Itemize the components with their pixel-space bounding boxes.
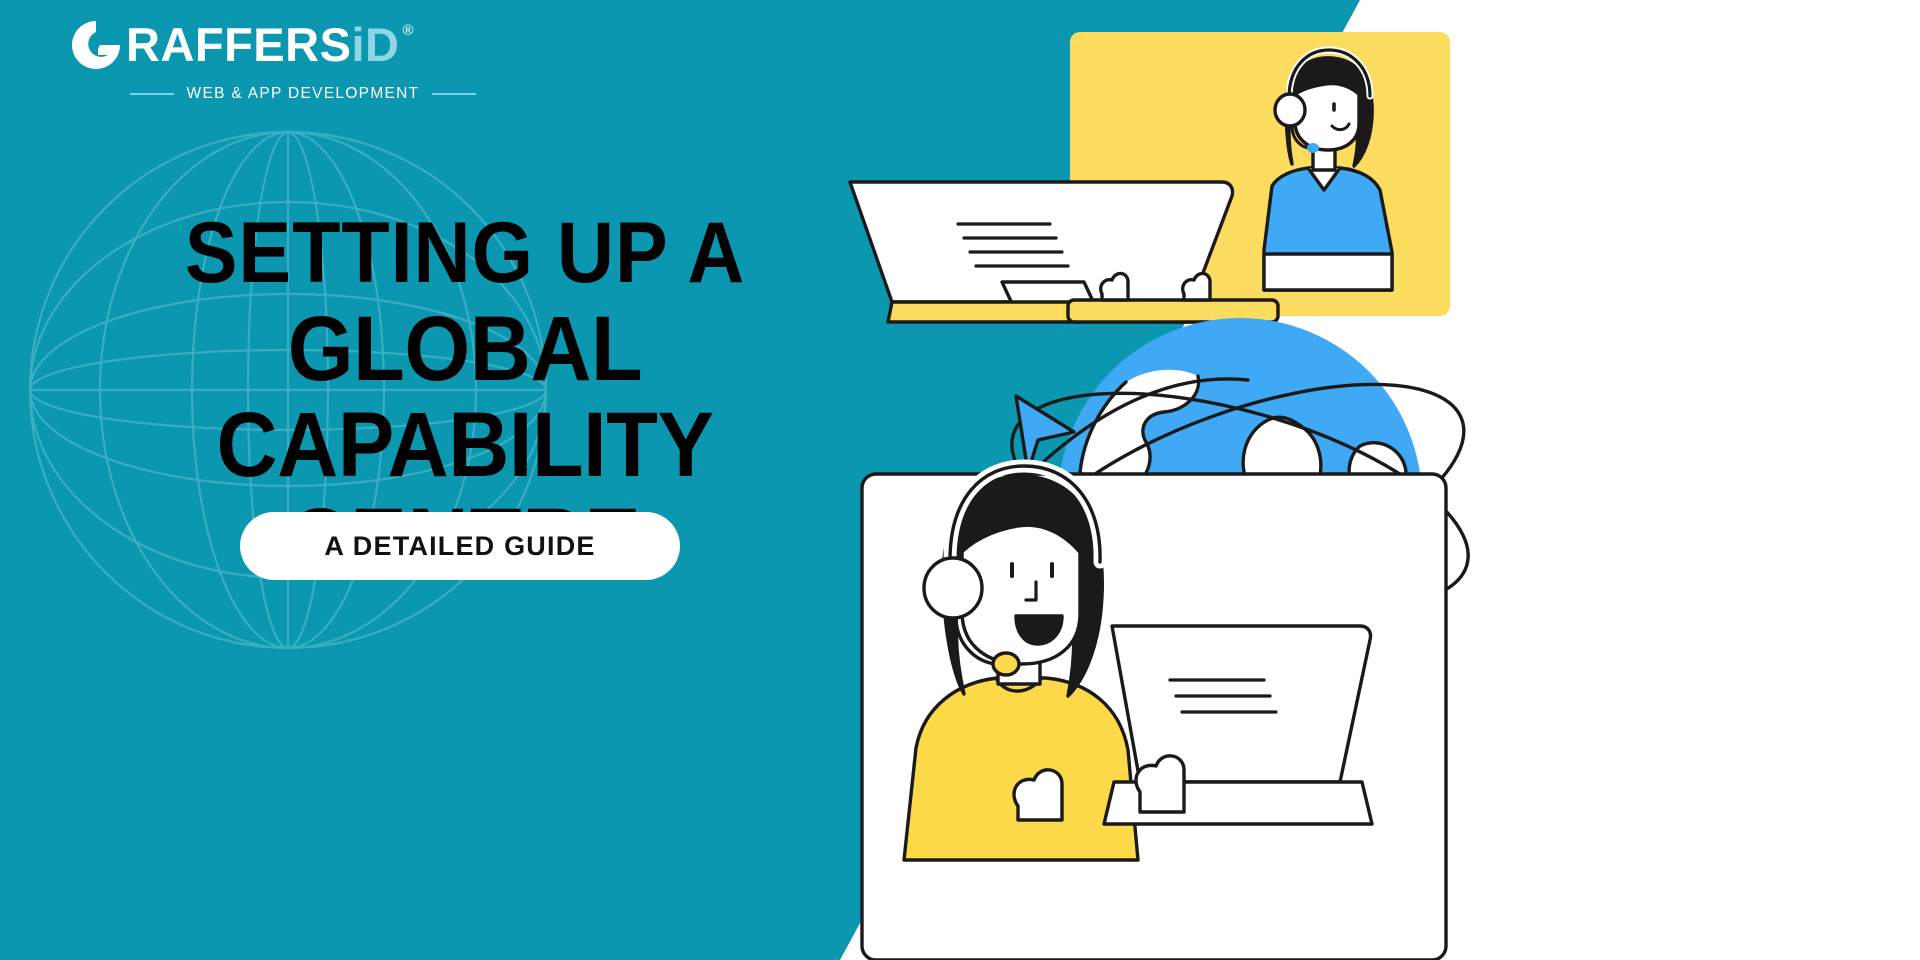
agent-bottom-torso: [904, 678, 1138, 860]
illustration-artwork: [840, 0, 1920, 960]
detailed-guide-button[interactable]: A DETAILED GUIDE: [240, 512, 680, 580]
logo-tagline-row: WEB & APP DEVELOPMENT: [68, 85, 538, 103]
agent-top-forearms: [1264, 254, 1392, 290]
brand-logo[interactable]: RAFFERSiD® WEB & APP DEVELOPMENT: [68, 14, 538, 103]
agent-bottom-headset-mic-tip: [993, 653, 1019, 675]
logo-text: RAFFERSiD®: [126, 17, 414, 73]
detailed-guide-button-label: A DETAILED GUIDE: [324, 531, 595, 562]
logo-accent-text: iD: [351, 17, 399, 73]
logo-tagline: WEB & APP DEVELOPMENT: [187, 85, 420, 103]
tagline-dash-left-icon: [130, 93, 174, 95]
agent-top-headset-mic-tip: [1307, 143, 1319, 153]
registered-trademark-icon: ®: [402, 23, 414, 38]
tagline-dash-right-icon: [432, 93, 476, 95]
graffers-g-icon: [68, 17, 124, 73]
agent-bottom-headset-earcup: [924, 558, 982, 618]
headline-line-1: SETTING UP A: [37, 205, 893, 301]
agent-top-headset-earcup: [1275, 94, 1305, 126]
logo-main-text: RAFFERS: [126, 17, 351, 73]
logo-wordmark-row: RAFFERSiD®: [68, 14, 538, 76]
headline-line-2: GLOBAL CAPABILITY: [37, 301, 893, 493]
marketing-banner: RAFFERSiD® WEB & APP DEVELOPMENT SETTING…: [0, 0, 1920, 960]
bottom-laptop-screen: [1112, 626, 1371, 782]
